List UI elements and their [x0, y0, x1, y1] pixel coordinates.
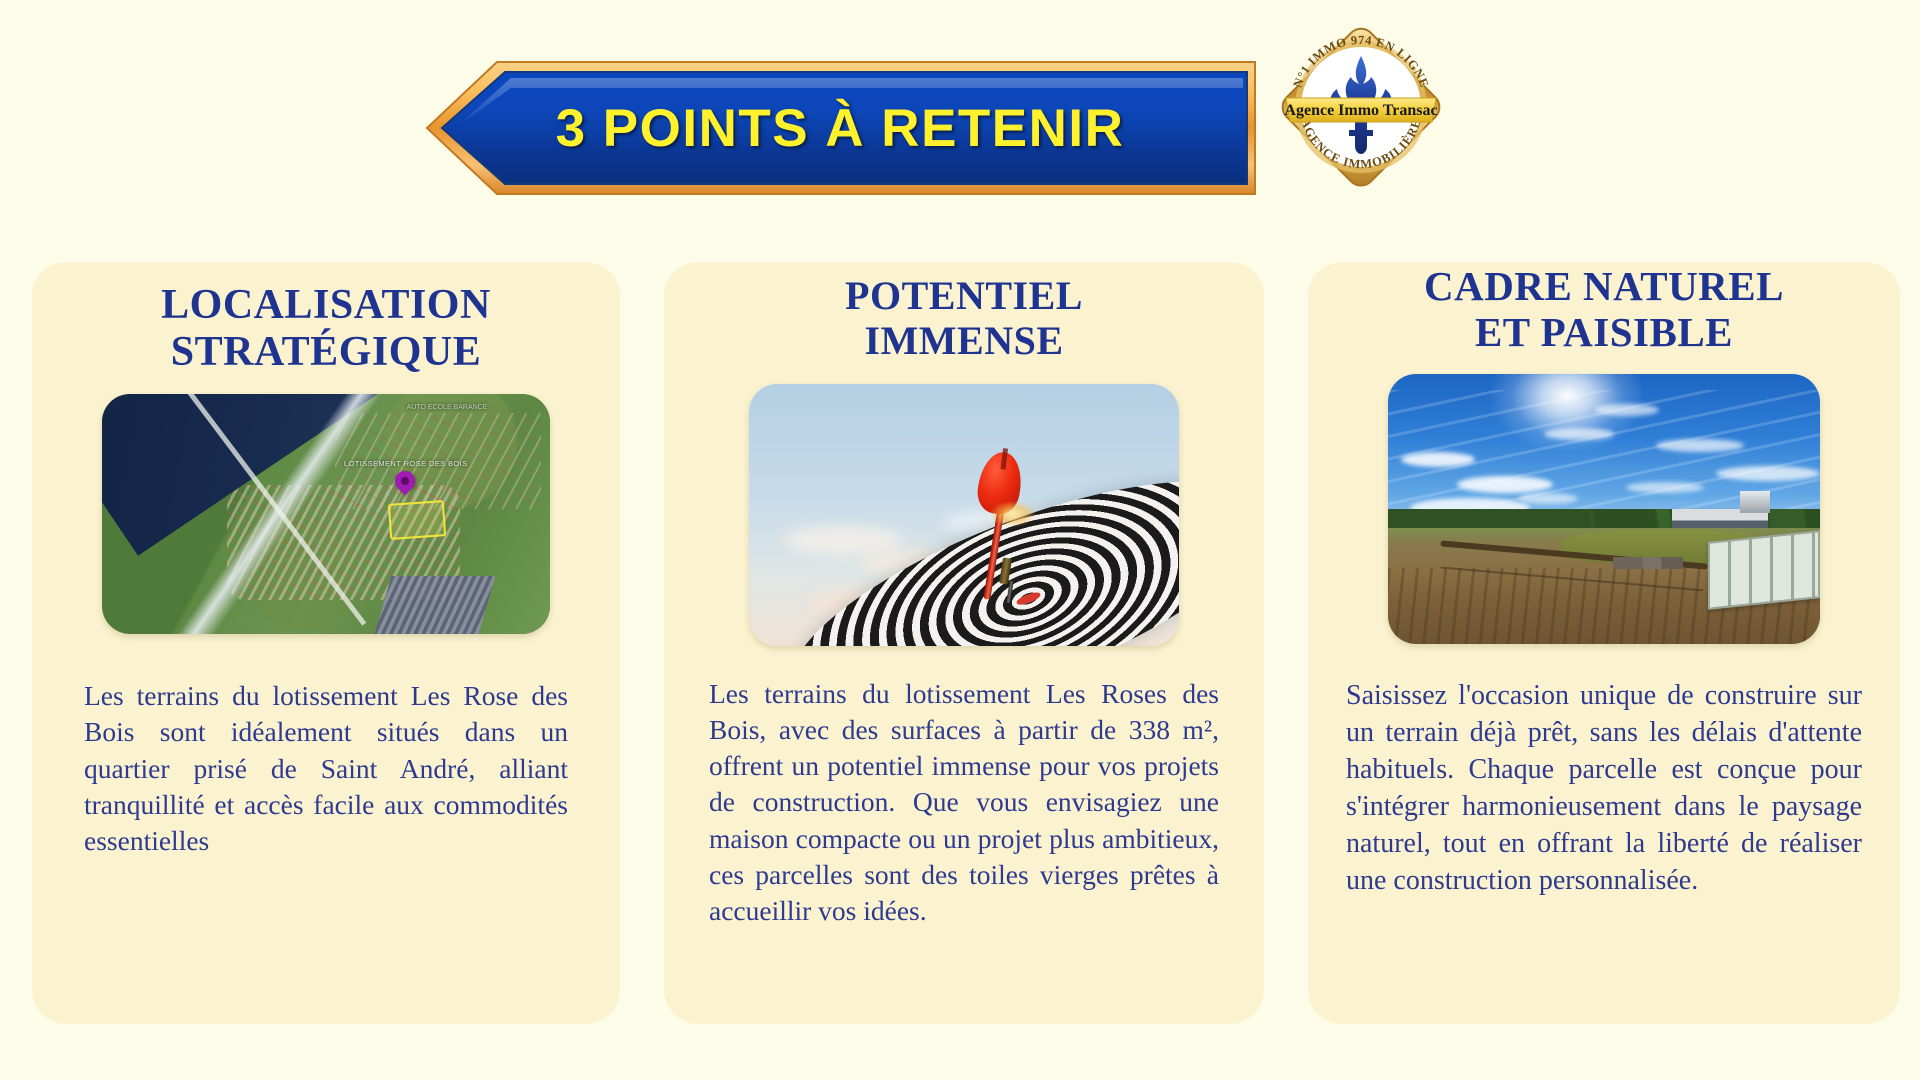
badge-ribbon-text: Agence Immo Transac: [1284, 102, 1437, 119]
header-banner: 3 POINTS À RETENIR: [425, 58, 1360, 198]
card-body-text: Saisissez l'occasion unique de construir…: [1346, 678, 1862, 900]
card-image-dart-target: [749, 384, 1179, 646]
card-body-text: Les terrains du lotissement Les Rose des…: [84, 678, 568, 859]
points-card-grid: LOCALISATION STRATÉGIQUE LOTISSEMENT ROS…: [0, 262, 1920, 1032]
parcel-outline: [388, 500, 446, 540]
map-corner-label: AUTO ECOLE BARANCE: [407, 404, 488, 411]
water-tanks: [1708, 530, 1820, 610]
badge-svg: N°1 IMMO 974 EN LIGNE AGENCE IMMOBILIÈRE…: [1272, 18, 1450, 196]
card-potentiel-immense: POTENTIEL IMMENSE Les terrains du lotiss…: [664, 262, 1264, 1024]
card-cadre-naturel-paisible: CADRE NATUREL ET PAISIBLE: [1308, 262, 1900, 1024]
card-body-text: Les terrains du lotissement Les Roses de…: [709, 676, 1219, 930]
agency-logo-badge: N°1 IMMO 974 EN LIGNE AGENCE IMMOBILIÈRE…: [1272, 18, 1450, 196]
card-title: POTENTIEL IMMENSE: [664, 274, 1264, 364]
card-localisation-strategique: LOCALISATION STRATÉGIQUE LOTISSEMENT ROS…: [32, 262, 620, 1024]
map-parcel-label: LOTISSEMENT ROSE DES BOIS: [344, 459, 468, 468]
card-image-aerial-map: LOTISSEMENT ROSE DES BOIS AUTO ECOLE BAR…: [102, 394, 550, 634]
card-title: LOCALISATION STRATÉGIQUE: [32, 282, 620, 376]
card-image-land-plot: [1388, 374, 1820, 644]
banner-arrow-shape: [425, 58, 1360, 198]
card-title: CADRE NATUREL ET PAISIBLE: [1308, 264, 1900, 356]
